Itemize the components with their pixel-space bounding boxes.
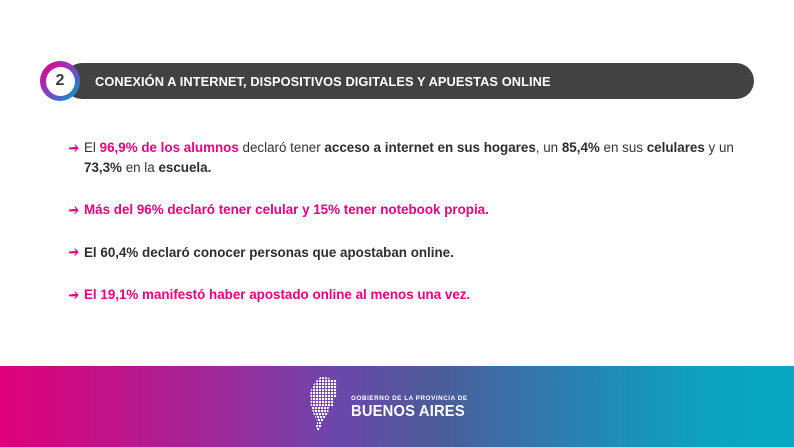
list-item: El 19,1% manifestó haber apostado online… bbox=[68, 285, 748, 305]
list-item: Más del 96% declaró tener celular y 15% … bbox=[68, 200, 748, 220]
badge-number-label: 2 bbox=[56, 73, 65, 89]
badge-inner: 2 bbox=[46, 67, 75, 96]
header-bar: CONEXIÓN A INTERNET, DISPOSITIVOS DIGITA… bbox=[64, 63, 754, 99]
list-item-text: El 19,1% manifestó haber apostado online… bbox=[84, 285, 748, 305]
text-run: El 19,1% manifestó haber apostado online… bbox=[84, 287, 470, 302]
text-run: declaró tener bbox=[239, 140, 325, 155]
text-run: El bbox=[84, 140, 100, 155]
text-run: 96,9% de los alumnos bbox=[100, 140, 239, 155]
text-run: 85,4% bbox=[562, 140, 600, 155]
logo-text: GOBIERNO DE LA PROVINCIA DE BUENOS AIRES bbox=[351, 394, 471, 420]
list-item-text: Más del 96% declaró tener celular y 15% … bbox=[84, 200, 748, 220]
text-run: 73,3% bbox=[84, 160, 122, 175]
list-item-text: El 60,4% declaró conocer personas que ap… bbox=[84, 243, 748, 263]
page-title: CONEXIÓN A INTERNET, DISPOSITIVOS DIGITA… bbox=[64, 74, 551, 89]
text-run: El 60,4% declaró conocer personas que ap… bbox=[84, 245, 454, 260]
buenos-aires-province-map-icon bbox=[307, 376, 343, 437]
list-item: El 96,9% de los alumnos declaró tener ac… bbox=[68, 138, 748, 177]
text-run: en la bbox=[122, 160, 158, 175]
logo: GOBIERNO DE LA PROVINCIA DE BUENOS AIRES bbox=[307, 376, 471, 437]
text-run: celulares bbox=[647, 140, 705, 155]
slide: CONEXIÓN A INTERNET, DISPOSITIVOS DIGITA… bbox=[0, 0, 794, 447]
logo-subtitle: GOBIERNO DE LA PROVINCIA DE bbox=[351, 394, 471, 403]
text-run: Más del 96% declaró tener celular y 15% … bbox=[84, 202, 489, 217]
arrow-right-icon bbox=[68, 243, 80, 263]
text-run: , un bbox=[536, 140, 562, 155]
bullet-list: El 96,9% de los alumnos declaró tener ac… bbox=[68, 138, 748, 305]
section-number-badge: 2 bbox=[40, 61, 80, 101]
list-item: El 60,4% declaró conocer personas que ap… bbox=[68, 243, 748, 263]
text-run: escuela. bbox=[158, 160, 211, 175]
text-run: acceso a internet en sus hogares bbox=[324, 140, 535, 155]
logo-title: BUENOS AIRES bbox=[351, 403, 465, 420]
text-run: en sus bbox=[600, 140, 647, 155]
arrow-right-icon bbox=[68, 200, 80, 220]
arrow-right-icon bbox=[68, 138, 80, 158]
text-run: y un bbox=[705, 140, 734, 155]
section-header: CONEXIÓN A INTERNET, DISPOSITIVOS DIGITA… bbox=[40, 61, 754, 101]
footer-band: GOBIERNO DE LA PROVINCIA DE BUENOS AIRES bbox=[0, 366, 794, 447]
arrow-right-icon bbox=[68, 285, 80, 305]
list-item-text: El 96,9% de los alumnos declaró tener ac… bbox=[84, 138, 748, 177]
